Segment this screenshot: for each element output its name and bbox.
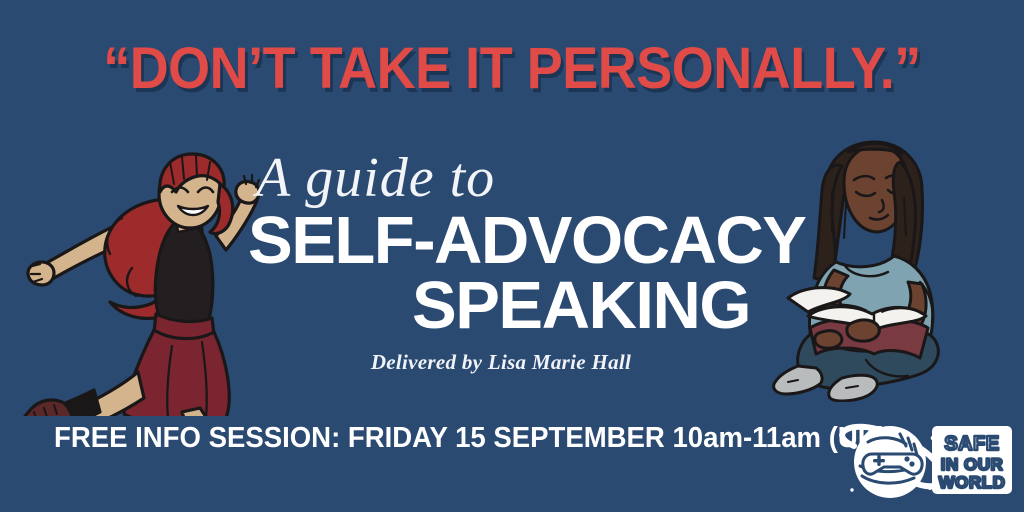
title-line-self-advocacy: SELF-ADVOCACY — [248, 208, 788, 273]
planet-gamepad-icon — [842, 426, 944, 498]
logo-line-3: WORLD — [939, 473, 1006, 492]
info-session-banner: FREE INFO SESSION: FRIDAY 15 SEPTEMBER 1… — [54, 422, 887, 455]
page-headline: “DON’T TAKE IT PERSONALLY.” — [36, 40, 988, 98]
presenter-credit: Delivered by Lisa Marie Hall — [248, 350, 788, 375]
title-line-speaking: SPEAKING — [248, 273, 788, 338]
title-eyebrow: A guide to — [256, 150, 788, 206]
logo-line-2: IN OUR — [941, 455, 1004, 474]
seated-reader-illustration — [770, 132, 1020, 407]
title-block: A guide to SELF-ADVOCACY SPEAKING Delive… — [248, 150, 788, 375]
poster-canvas: “DON’T TAKE IT PERSONALLY.” — [0, 0, 1024, 512]
logo-line-1: SAFE — [944, 433, 999, 455]
safe-in-our-world-logo[interactable]: SAFE IN OUR WORLD — [838, 414, 1014, 511]
